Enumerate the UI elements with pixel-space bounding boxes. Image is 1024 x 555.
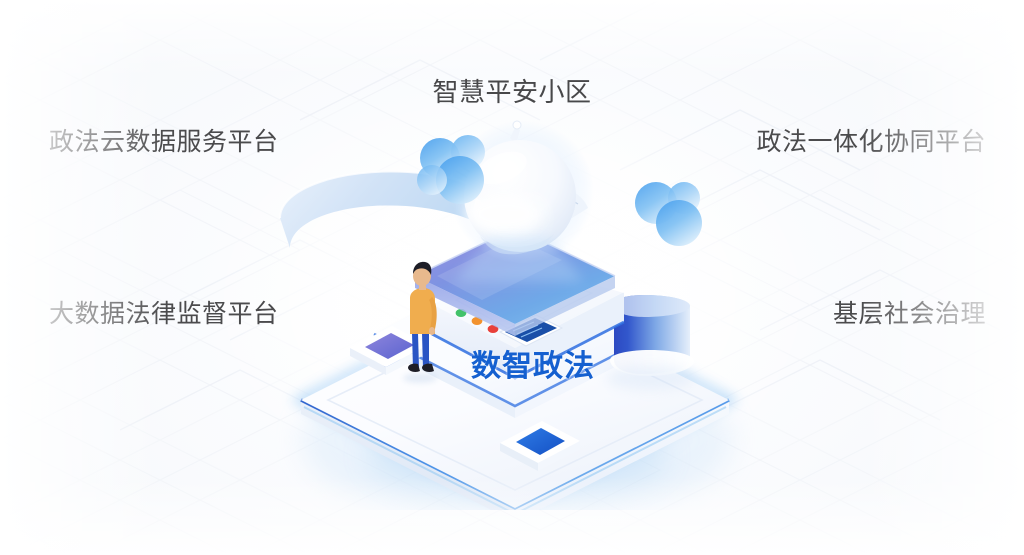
label-zhengfa-cloud-data-service-platform: 政法云数据服务平台 bbox=[49, 122, 279, 158]
isometric-platform-illustration bbox=[232, 110, 792, 510]
center-brand-label: 数智政法 bbox=[471, 341, 595, 385]
label-grassroots-social-governance: 基层社会治理 bbox=[833, 294, 986, 330]
cloud-right bbox=[635, 182, 702, 246]
page-title: 智慧平安小区 bbox=[432, 72, 591, 109]
label-zhengfa-integrated-collaboration-platform: 政法一体化协同平台 bbox=[756, 122, 986, 158]
cloud-left bbox=[417, 135, 485, 204]
illustration-stage: 智慧平安小区 政法云数据服务平台 政法一体化协同平台 大数据法律监督平台 基层社… bbox=[0, 0, 1024, 555]
label-bigdata-legal-supervision-platform: 大数据法律监督平台 bbox=[49, 294, 279, 330]
